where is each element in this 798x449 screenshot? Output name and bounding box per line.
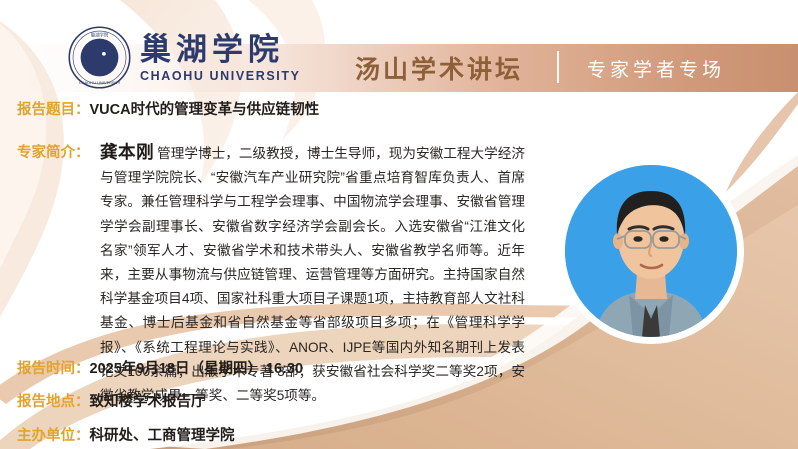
report-place-value: 致知楼学术报告厅 [90, 394, 206, 410]
report-place-row: 报告地点：致知楼学术报告厅 [17, 390, 206, 411]
banner-divider [557, 51, 559, 83]
report-host-value: 科研处、工商管理学院 [90, 428, 235, 444]
report-title-row: 报告题目：VUCA时代的管理变革与供应链韧性 [17, 98, 319, 119]
report-time-label: 报告时间： [17, 361, 90, 377]
university-logo-lockup: 巢湖学院 CHAOHU UNIVERSITY 巢湖学院 CHAOHU UNIVE… [68, 26, 301, 89]
report-host-label: 主办单位： [17, 428, 90, 444]
banner-subtitle: 专家学者专场 [587, 55, 725, 82]
university-name-cn: 巢湖学院 [140, 34, 284, 67]
report-time-row: 报告时间：2025年9月18日（星期四） 16:30 [17, 357, 303, 378]
svg-text:巢湖学院: 巢湖学院 [91, 32, 109, 39]
university-name-block: 巢湖学院 CHAOHU UNIVERSITY [140, 34, 301, 83]
speaker-portrait [565, 165, 737, 337]
report-title-label: 报告题目： [17, 102, 90, 118]
report-title-value: VUCA时代的管理变革与供应链韧性 [90, 102, 320, 118]
speaker-intro-label: 专家简介： [17, 145, 90, 161]
svg-text:CHAOHU UNIVERSITY: CHAOHU UNIVERSITY [79, 80, 121, 85]
chaohu-university-seal-icon: 巢湖学院 CHAOHU UNIVERSITY [68, 26, 131, 89]
report-time-value: 2025年9月18日（星期四） 16:30 [90, 361, 304, 377]
banner-title: 汤山学术讲坛 [355, 50, 523, 86]
university-name-en: CHAOHU UNIVERSITY [140, 69, 301, 83]
speaker-intro-label-wrap: 专家简介： [17, 141, 90, 162]
speaker-portrait-photo [565, 165, 737, 337]
report-host-row: 主办单位：科研处、工商管理学院 [17, 424, 235, 445]
report-place-label: 报告地点： [17, 394, 90, 410]
seminar-poster: 汤山学术讲坛 专家学者专场 巢湖学院 CHAOHU UNIVERSITY 巢湖学… [0, 0, 798, 449]
speaker-name: 龚本刚 [100, 142, 154, 162]
